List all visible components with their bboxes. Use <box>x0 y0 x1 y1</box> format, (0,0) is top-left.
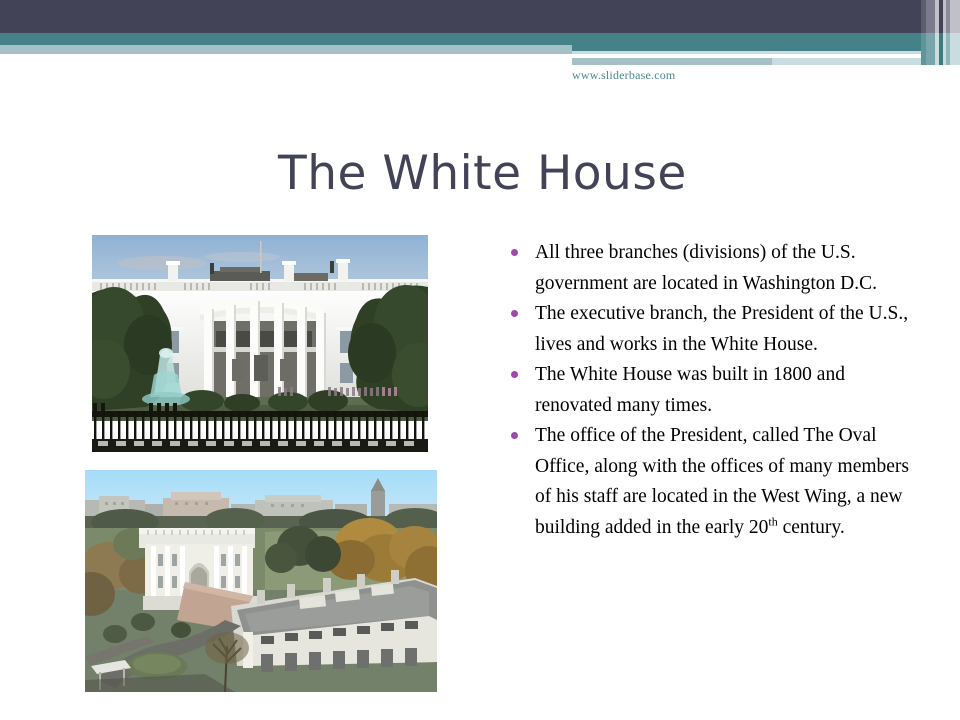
list-item: The office of the President, called The … <box>505 421 925 543</box>
header-vertical-stripe-lower-2 <box>926 33 935 65</box>
bullet-text: The executive branch, the President of t… <box>535 299 925 360</box>
watermark-url: www.sliderbase.com <box>572 68 675 83</box>
bullet-text-tail: century. <box>778 517 845 538</box>
bullet-text: All three branches (divisions) of the U.… <box>535 238 925 299</box>
list-item: The White House was built in 1800 and re… <box>505 360 925 421</box>
header-vertical-stripe-lower-7 <box>950 33 960 65</box>
slide-header-banner <box>0 0 960 100</box>
header-teal-bar <box>0 33 960 45</box>
ordinal-superscript: th <box>768 514 777 528</box>
bullet-text: The office of the President, called The … <box>535 421 925 543</box>
bullet-text: The White House was built in 1800 and re… <box>535 360 925 421</box>
white-house-west-wing-aerial-photo <box>85 470 437 692</box>
bullet-dot-icon <box>511 249 518 256</box>
page-title: The White House <box>278 146 687 201</box>
bullet-text-main: The office of the President, called The … <box>535 425 909 538</box>
bullet-dot-icon <box>511 432 518 439</box>
white-house-south-facade-photo <box>92 235 428 452</box>
header-pale-stripe-lower-left <box>572 58 772 65</box>
list-item: The executive branch, the President of t… <box>505 299 925 360</box>
slide-body-text: All three branches (divisions) of the U.… <box>505 238 925 543</box>
bullet-dot-icon <box>511 371 518 378</box>
header-navy-bar <box>0 0 960 33</box>
list-item: All three branches (divisions) of the U.… <box>505 238 925 299</box>
bullet-dot-icon <box>511 310 518 317</box>
